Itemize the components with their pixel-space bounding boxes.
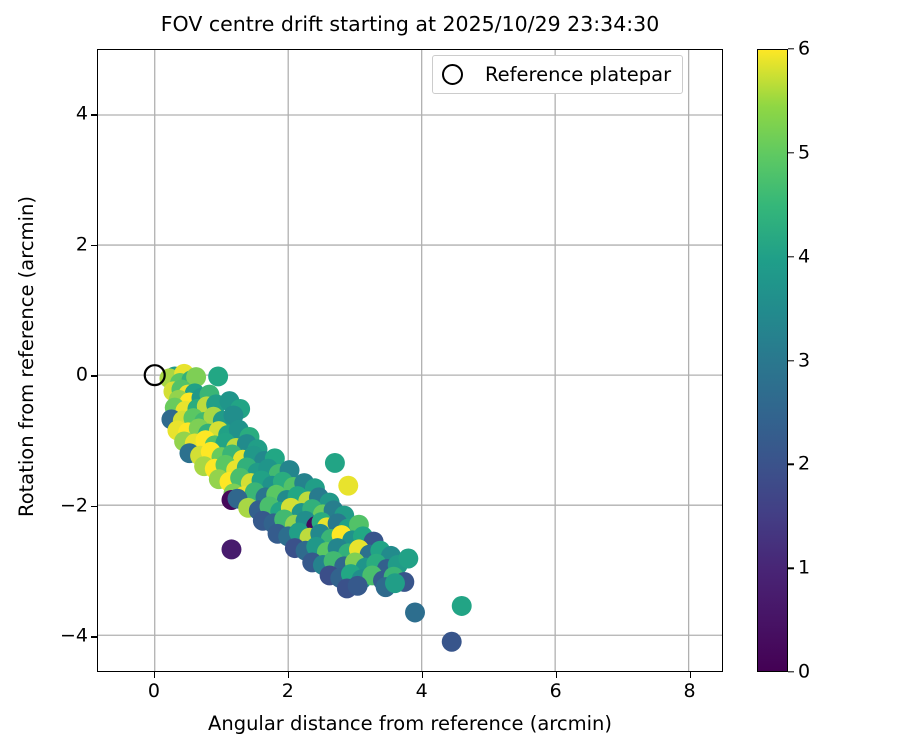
x-tick-label: 0 <box>124 682 184 701</box>
scatter-point <box>398 549 418 569</box>
scatter-point <box>385 573 405 593</box>
y-tick-mark <box>91 245 97 247</box>
x-tick-mark <box>288 672 290 678</box>
y-tick-label: −2 <box>42 496 88 515</box>
scatter-point <box>348 576 368 596</box>
x-tick-mark <box>690 672 692 678</box>
y-tick-label: 0 <box>42 366 88 385</box>
scatter-point <box>452 596 472 616</box>
x-tick-label: 6 <box>526 682 586 701</box>
x-axis-ticks: 02468 <box>97 682 723 708</box>
scatter-point <box>222 539 242 559</box>
colorbar-tick-label: 5 <box>798 143 810 162</box>
scatter-point <box>338 476 358 496</box>
y-axis-ticks: −4−2024 <box>36 49 88 672</box>
scatter-points <box>159 364 471 652</box>
matplotlib-figure: FOV centre drift starting at 2025/10/29 … <box>0 0 900 750</box>
colorbar <box>757 49 788 672</box>
colorbar-tick-label: 0 <box>798 663 810 682</box>
x-tick-mark <box>422 672 424 678</box>
legend-label: Reference platepar <box>485 63 671 86</box>
y-tick-label: 2 <box>42 235 88 254</box>
colorbar-tick-mark <box>788 152 794 153</box>
colorbar-tick-mark <box>788 671 794 672</box>
x-tick-mark <box>154 672 156 678</box>
reference-platepar-icon <box>442 64 463 85</box>
x-tick-label: 4 <box>392 682 452 701</box>
plot-area <box>97 49 723 672</box>
scatter-point <box>442 632 462 652</box>
x-tick-label: 2 <box>258 682 318 701</box>
colorbar-tick-mark <box>788 360 794 361</box>
page-title: FOV centre drift starting at 2025/10/29 … <box>97 12 723 36</box>
colorbar-tick-label: 4 <box>798 247 810 266</box>
colorbar-tick-label: 2 <box>798 455 810 474</box>
y-tick-mark <box>91 636 97 638</box>
y-axis-label: Rotation from reference (arcmin) <box>15 45 38 668</box>
x-tick-mark <box>556 672 558 678</box>
colorbar-tick-label: 1 <box>798 559 810 578</box>
colorbar-tick-label: 3 <box>798 351 810 370</box>
y-tick-mark <box>91 114 97 116</box>
x-axis-label: Angular distance from reference (arcmin) <box>97 712 723 735</box>
colorbar-tick-mark <box>788 256 794 257</box>
y-tick-mark <box>91 506 97 508</box>
y-tick-label: −4 <box>42 627 88 646</box>
colorbar-ticks: 0123456 <box>788 49 834 672</box>
scatter-point <box>405 603 425 623</box>
y-tick-mark <box>91 375 97 377</box>
colorbar-tick-label: 6 <box>798 40 810 59</box>
legend: Reference platepar <box>432 55 683 94</box>
scatter-svg <box>98 50 722 671</box>
x-tick-label: 8 <box>660 682 720 701</box>
colorbar-tick-mark <box>788 48 794 49</box>
colorbar-tick-mark <box>788 567 794 568</box>
colorbar-tick-mark <box>788 464 794 465</box>
y-tick-label: 4 <box>42 105 88 124</box>
scatter-point <box>325 453 345 473</box>
scatter-point <box>208 366 228 386</box>
